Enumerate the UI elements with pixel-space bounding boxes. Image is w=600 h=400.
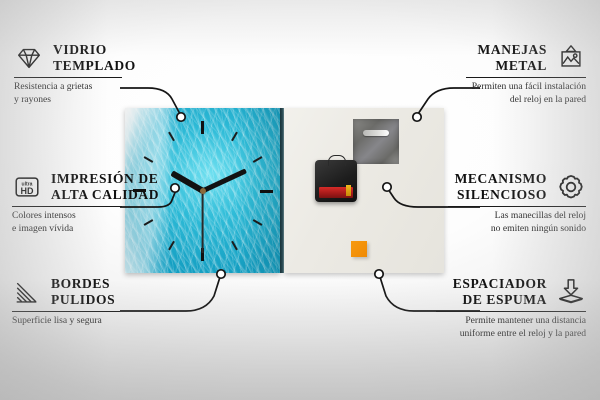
callout-espaciador-espuma: ESPACIADOR DE ESPUMA Permite mantener un… (436, 276, 586, 341)
callout-description: Las manecillas del reloj no emiten ningú… (448, 210, 586, 235)
metal-hanger-plate (353, 119, 399, 164)
mechanism-loop (328, 155, 346, 166)
battery (319, 187, 353, 198)
clock-minute-hand (201, 168, 247, 193)
product-images (125, 108, 357, 273)
clock-center-cap (200, 188, 206, 194)
callout-impresion-alta-calidad: ultra HD IMPRESIÓN DE ALTA CALIDAD Color… (12, 171, 122, 236)
callout-title: BORDES PULIDOS (51, 276, 115, 308)
callout-description: Resistencia a grietas y rayones (14, 81, 122, 106)
callout-description: Permite mantener una distancia uniforme … (436, 315, 586, 340)
callout-description: Colores intensos e imagen vívida (12, 210, 122, 235)
callout-title: VIDRIO TEMPLADO (53, 42, 136, 74)
ultra-hd-icon: ultra HD (12, 172, 42, 202)
callout-mecanismo-silencioso: MECANISMO SILENCIOSO Las manecillas del … (448, 171, 586, 236)
callout-title: MECANISMO SILENCIOSO (455, 171, 547, 203)
diamond-icon (14, 43, 44, 73)
callout-rule (466, 77, 586, 79)
clock-mechanism (315, 160, 357, 202)
callout-rule (448, 206, 586, 208)
callout-rule (12, 311, 120, 313)
callout-bordes-pulidos: BORDES PULIDOS Superficie lisa y segura (12, 276, 120, 328)
callout-rule (12, 206, 122, 208)
foam-spacer (351, 241, 367, 257)
clock-hour-hand (170, 170, 204, 193)
callout-title: MANEJAS METAL (478, 42, 547, 74)
foam-spacer-icon (556, 277, 586, 307)
clock-second-hand (202, 191, 204, 253)
infographic-canvas: VIDRIO TEMPLADO Resistencia a grietas y … (0, 0, 600, 400)
callout-rule (14, 77, 122, 79)
callout-manejas-metal: MANEJAS METAL Permiten una fácil instala… (466, 42, 586, 107)
clock-back-view (284, 108, 444, 273)
connector-bordes (120, 277, 220, 311)
callout-title: ESPACIADOR DE ESPUMA (453, 276, 547, 308)
callout-description: Superficie lisa y segura (12, 315, 120, 328)
ultra-hd-icon-large-text: HD (21, 186, 34, 196)
polished-edges-icon (12, 277, 42, 307)
callout-description: Permiten una fácil instalación del reloj… (466, 81, 586, 106)
hanging-frame-icon (556, 43, 586, 73)
callout-title: IMPRESIÓN DE ALTA CALIDAD (51, 171, 159, 203)
callout-rule (436, 311, 586, 313)
hanger-slot (363, 130, 389, 136)
callout-vidrio-templado: VIDRIO TEMPLADO Resistencia a grietas y … (14, 42, 122, 107)
gear-icon (556, 172, 586, 202)
